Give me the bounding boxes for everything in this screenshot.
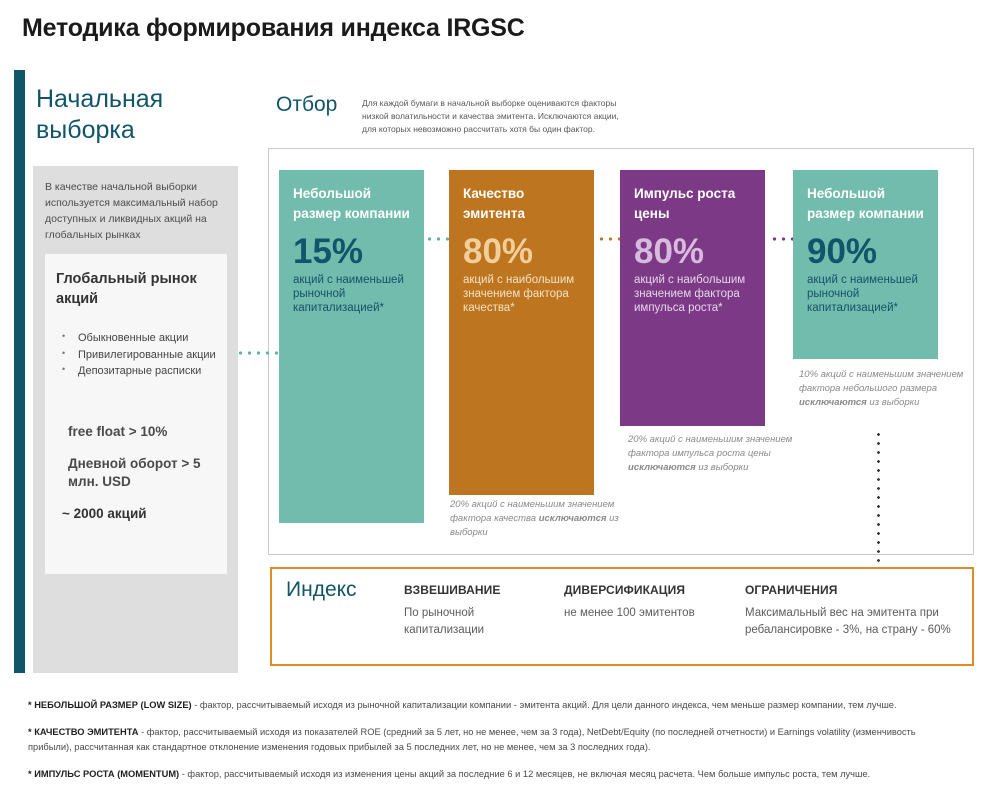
factor-percent: 80%	[463, 234, 582, 271]
index-item-body: Максимальный вес на эмитента при ребалан…	[745, 605, 963, 638]
factor-percent: 90%	[807, 234, 926, 271]
caption-bold: исключаются	[539, 513, 607, 524]
factor-subtitle: акций с наибольшим значением фактора кач…	[463, 273, 582, 315]
factor-percent: 15%	[293, 234, 412, 271]
footnote-low-size: * НЕБОЛЬШОЙ РАЗМЕР (LOW SIZE) - фактор, …	[28, 698, 958, 713]
connector-dots-col1-to-col2	[425, 237, 451, 241]
selection-description: Для каждой бумаги в начальной выборке оц…	[362, 97, 624, 136]
footnote-text: - фактор, рассчитываемый исходя из рыноч…	[192, 700, 897, 710]
factor-card-low-size-1: Небольшой размер компании 15% акций с на…	[279, 170, 424, 523]
index-item-header: ДИВЕРСИФИКАЦИЯ	[564, 583, 734, 597]
instrument-list: Обыкновенные акции Привилегированные акц…	[56, 331, 226, 381]
initial-sample-heading: Начальная выборка	[33, 84, 238, 145]
connector-dots-sample-to-col1	[236, 351, 280, 355]
index-weighting: ВЗВЕШИВАНИЕ По рыночной капитализации	[404, 583, 554, 638]
connector-dots-col2-to-col3	[597, 237, 622, 241]
exclusion-caption-low-size: 10% акций с наименьшим значением фактора…	[799, 368, 964, 409]
left-accent-bar	[14, 70, 25, 673]
caption-post: из выборки	[867, 397, 920, 408]
index-label: Индекс	[286, 578, 357, 602]
caption-pre: 20% акций с наименьшим значением фактора…	[628, 434, 792, 459]
factor-subtitle: акций с наименьшей рыночной капитализаци…	[293, 273, 412, 315]
selection-title: Отбор	[276, 93, 337, 117]
list-item: Депозитарные расписки	[56, 364, 226, 380]
factor-percent: 80%	[634, 234, 753, 271]
connector-dots-col3-to-col4	[770, 237, 795, 241]
diagram-page: Методика формирования индекса IRGSC Нача…	[0, 0, 985, 811]
free-float-criterion: free float > 10%	[68, 423, 228, 441]
caption-pre: 10% акций с наименьшим значением фактора…	[799, 369, 963, 394]
footnote-text: - фактор, рассчитываемый исходя из измен…	[179, 769, 870, 779]
exclusion-caption-momentum: 20% акций с наименьшим значением фактора…	[628, 433, 796, 474]
caption-bold: исключаются	[799, 397, 867, 408]
page-title: Методика формирования индекса IRGSC	[22, 14, 525, 43]
list-item: Обыкновенные акции	[56, 331, 226, 347]
global-market-title: Глобальный рынок акций	[56, 270, 221, 309]
index-item-body: не менее 100 эмитентов	[564, 605, 734, 622]
initial-sample-section: Начальная выборка	[33, 84, 238, 145]
factor-card-low-size-2: Небольшой размер компании 90% акций с на…	[793, 170, 938, 359]
footnote-text: - фактор, рассчитываемый исходя из показ…	[28, 727, 916, 752]
daily-turnover-criterion: Дневной оборот > 5 млн. USD	[68, 455, 228, 491]
footnote-term: * ИМПУЛЬС РОСТА (MOMENTUM)	[28, 769, 179, 779]
initial-sample-intro: В качестве начальной выборки используетс…	[45, 180, 227, 244]
factor-subtitle: акций с наименьшей рыночной капитализаци…	[807, 273, 926, 315]
footnote-term: * КАЧЕСТВО ЭМИТЕНТА	[28, 727, 139, 737]
index-limits: ОГРАНИЧЕНИЯ Максимальный вес на эмитента…	[745, 583, 963, 638]
connector-dots-col4-to-index	[877, 430, 880, 582]
caption-bold: исключаются	[628, 462, 696, 473]
footnote-momentum: * ИМПУЛЬС РОСТА (MOMENTUM) - фактор, рас…	[28, 767, 958, 782]
factor-card-momentum: Импульс роста цены 80% акций с наибольши…	[620, 170, 765, 426]
factor-card-quality: Качество эмитента 80% акций с наибольшим…	[449, 170, 594, 495]
footnotes: * НЕБОЛЬШОЙ РАЗМЕР (LOW SIZE) - фактор, …	[28, 698, 958, 794]
factor-title: Импульс роста цены	[634, 184, 753, 223]
factor-subtitle: акций с наибольшим значением фактора имп…	[634, 273, 753, 315]
caption-post: из выборки	[696, 462, 749, 473]
factor-title: Небольшой размер компании	[293, 184, 412, 223]
index-item-header: ОГРАНИЧЕНИЯ	[745, 583, 963, 597]
list-item: Привилегированные акции	[56, 348, 226, 364]
footnote-term: * НЕБОЛЬШОЙ РАЗМЕР (LOW SIZE)	[28, 700, 192, 710]
footnote-quality: * КАЧЕСТВО ЭМИТЕНТА - фактор, рассчитыва…	[28, 725, 958, 755]
index-item-header: ВЗВЕШИВАНИЕ	[404, 583, 554, 597]
exclusion-caption-quality: 20% акций с наименьшим значением фактора…	[450, 498, 625, 539]
index-item-body: По рыночной капитализации	[404, 605, 554, 638]
index-diversification: ДИВЕРСИФИКАЦИЯ не менее 100 эмитентов	[564, 583, 734, 622]
factor-title: Небольшой размер компании	[807, 184, 926, 223]
total-stocks-count: ~ 2000 акций	[62, 505, 222, 523]
factor-title: Качество эмитента	[463, 184, 582, 223]
